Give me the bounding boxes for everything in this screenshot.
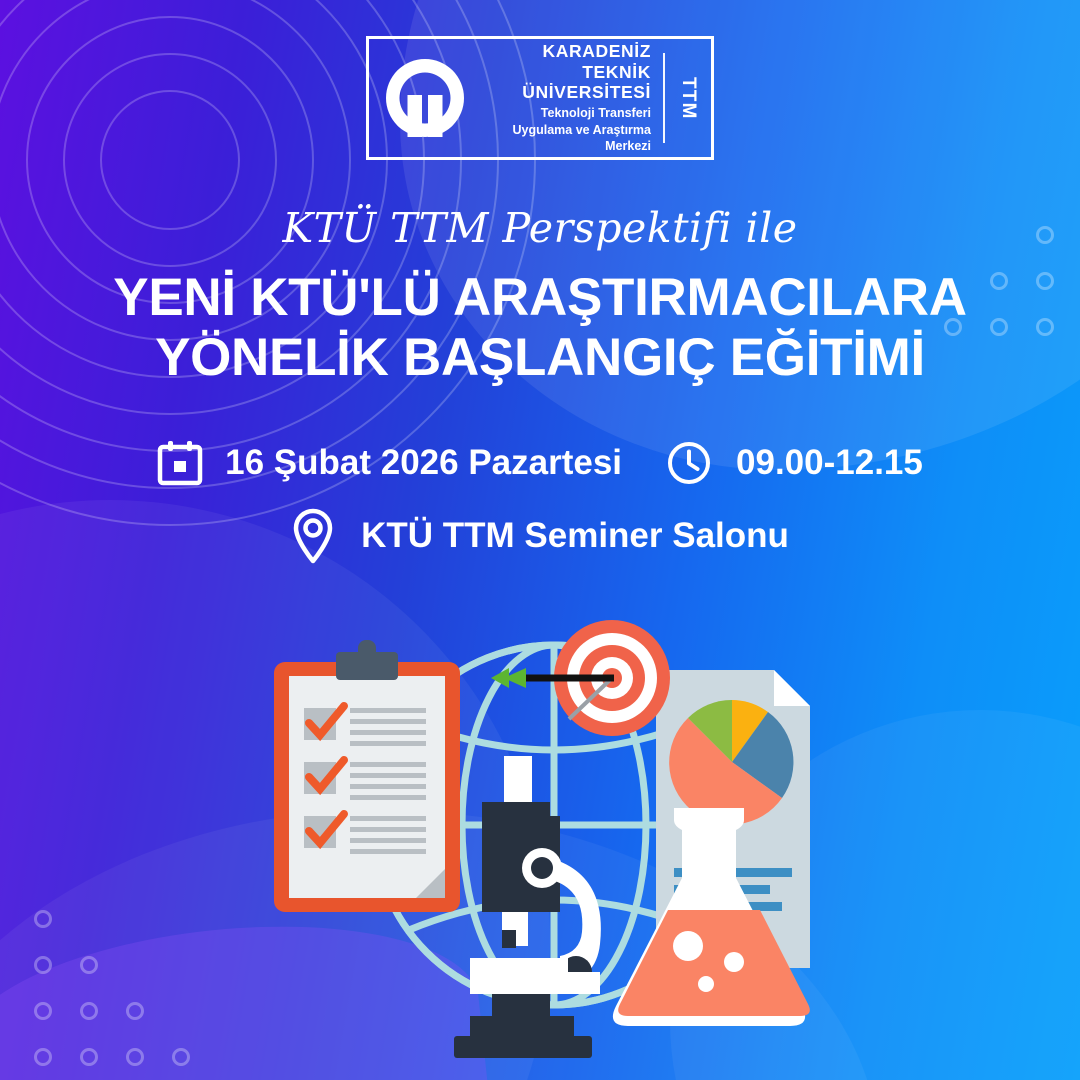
script-subtitle: KTÜ TTM Perspektifi ile (0, 204, 1080, 252)
poster-canvas: KARADENİZ TEKNİK ÜNİVERSİTESİ Teknoloji … (0, 0, 1080, 1080)
logo-text-block: KARADENİZ TEKNİK ÜNİVERSİTESİ Teknoloji … (481, 39, 663, 157)
event-date: 16 Şubat 2026 Pazartesi (225, 443, 622, 483)
target-with-arrow (491, 620, 670, 736)
clock-icon (666, 440, 712, 486)
title-line-2: YÖNELİK BAŞLANGIÇ EĞİTİMİ (0, 328, 1080, 388)
date-time-row: 16 Şubat 2026 Pazartesi 09.00-12.15 (0, 440, 1080, 486)
ktu-ttm-logo: KARADENİZ TEKNİK ÜNİVERSİTESİ Teknoloji … (366, 36, 714, 160)
event-time: 09.00-12.15 (736, 443, 923, 483)
calendar-icon (157, 440, 203, 486)
ktu-monogram-icon (369, 39, 481, 157)
logo-line-4: Uygulama ve Araştırma Merkezi (481, 122, 651, 155)
logo-line-1: KARADENİZ (543, 41, 651, 61)
clipboard-checklist (274, 640, 460, 912)
time-item: 09.00-12.15 (666, 440, 923, 486)
location-pin-icon (291, 508, 335, 564)
page-title: YENİ KTÜ'LÜ ARAŞTIRMACILARA YÖNELİK BAŞL… (0, 268, 1080, 388)
event-location: KTÜ TTM Seminer Salonu (361, 516, 789, 556)
logo-ttm-vertical: TTM (665, 39, 711, 157)
location-item: KTÜ TTM Seminer Salonu (291, 508, 789, 564)
logo-line-3: Teknoloji Transferi (541, 105, 651, 122)
location-row: KTÜ TTM Seminer Salonu (0, 508, 1080, 564)
logo-line-2: TEKNİK ÜNİVERSİTESİ (481, 62, 651, 103)
logo-divider (663, 53, 665, 143)
title-line-1: YENİ KTÜ'LÜ ARAŞTIRMACILARA (0, 268, 1080, 328)
pie-chart (669, 700, 793, 825)
dot-grid-bottom-left (34, 910, 174, 1060)
research-tools-illustration (264, 580, 824, 1070)
date-item: 16 Şubat 2026 Pazartesi (157, 440, 666, 486)
